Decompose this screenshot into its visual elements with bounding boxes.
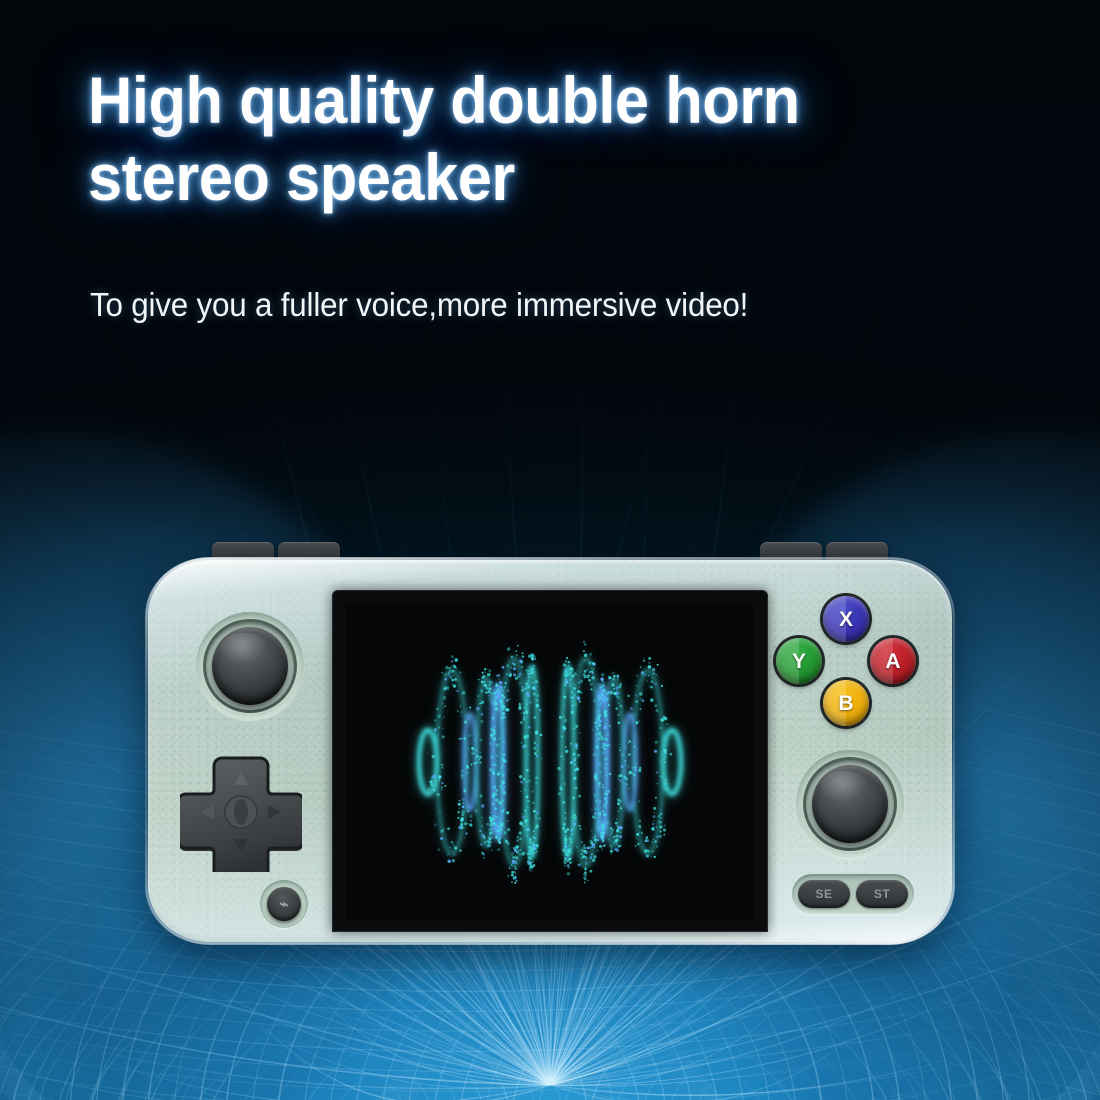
handheld-console: ⌁ X Y A B SE ST (148, 560, 952, 942)
face-button-cluster: X Y A B (776, 596, 916, 728)
right-stick-cap[interactable] (812, 765, 888, 843)
left-stick-cap[interactable] (212, 627, 288, 705)
left-analog-stick[interactable] (196, 612, 304, 720)
start-button[interactable]: ST (856, 880, 908, 908)
face-button-b[interactable]: B (823, 680, 869, 726)
page-title: High quality double horn stereo speaker (88, 62, 962, 216)
face-button-b-label: B (838, 693, 853, 714)
face-button-a[interactable]: A (870, 638, 916, 684)
face-button-y[interactable]: Y (776, 638, 822, 684)
audio-waveform-visualizer (346, 604, 754, 920)
right-analog-stick[interactable] (796, 750, 904, 858)
function-button[interactable]: ⌁ (260, 880, 308, 928)
marketing-banner: High quality double horn stereo speaker … (0, 0, 1100, 1100)
select-button[interactable]: SE (798, 880, 850, 908)
face-button-a-label: A (885, 651, 900, 672)
face-button-y-label: Y (792, 651, 806, 672)
face-button-x[interactable]: X (823, 596, 869, 642)
page-subtitle: To give you a fuller voice,more immersiv… (90, 286, 1002, 324)
console-screen-bezel (332, 590, 768, 932)
system-button-group: SE ST (792, 874, 914, 914)
dpad[interactable] (180, 752, 302, 872)
face-button-x-label: X (839, 609, 853, 630)
function-button-glyph: ⌁ (267, 887, 301, 921)
console-display[interactable] (346, 604, 754, 920)
